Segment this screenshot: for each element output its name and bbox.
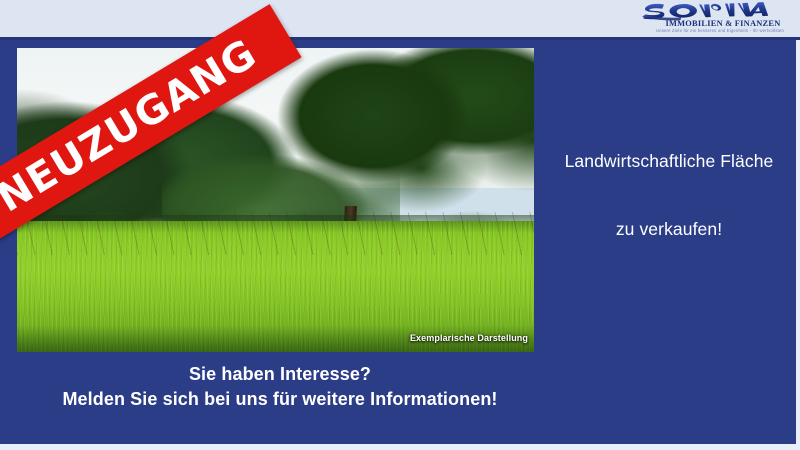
cta-question: Sie haben Interesse? [0, 362, 560, 387]
frame-edge-bottom [0, 444, 800, 450]
photo-caption: Exemplarische Darstellung [410, 333, 528, 343]
property-photo: Exemplarische Darstellung [17, 48, 534, 352]
cta-instruction: Melden Sie sich bei uns für weitere Info… [0, 387, 560, 412]
offer-headline: Landwirtschaftliche Fläche [540, 150, 798, 172]
slide-root: IMMOBILIEN & FINANZEN Unsere Ziele für e… [0, 0, 800, 450]
frame-edge-right [796, 40, 800, 450]
sowa-wordmark-icon [640, 1, 792, 21]
photo-stalks [17, 212, 534, 255]
offer-subline: zu verkaufen! [540, 218, 798, 240]
header-band: IMMOBILIEN & FINANZEN Unsere Ziele für e… [0, 0, 800, 40]
company-logo[interactable]: IMMOBILIEN & FINANZEN Unsere Ziele für e… [640, 2, 792, 36]
header-logo-area: IMMOBILIEN & FINANZEN Unsere Ziele für e… [640, 0, 792, 37]
logo-tagline: Unsere Ziele für ein besseres und Eigenh… [648, 27, 792, 33]
logo-subtitle: IMMOBILIEN & FINANZEN [654, 19, 792, 28]
offer-text-column: Landwirtschaftliche Fläche zu verkaufen! [540, 150, 798, 240]
call-to-action: Sie haben Interesse? Melden Sie sich bei… [0, 362, 560, 412]
